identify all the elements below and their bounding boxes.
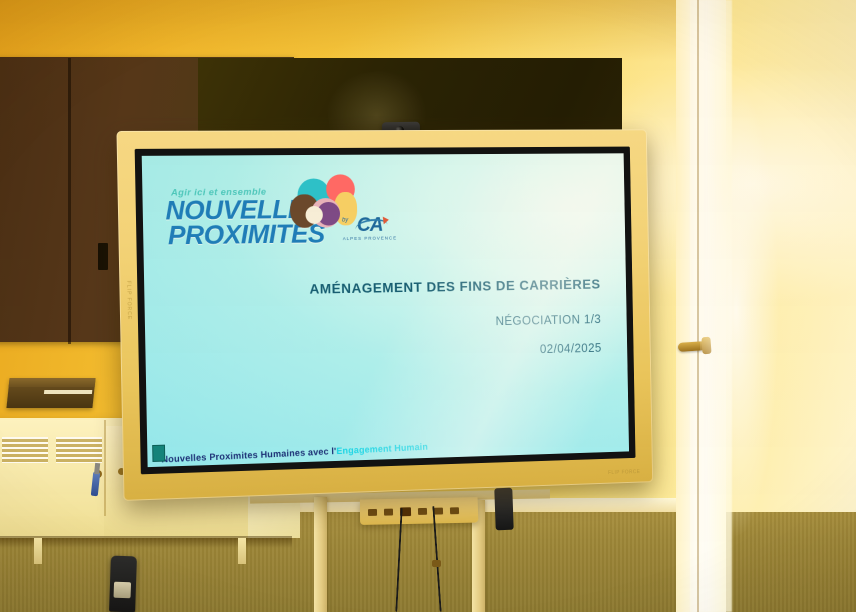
cabinet-leg — [238, 538, 246, 564]
cabinet-leg — [34, 538, 42, 564]
cabinet-shadow — [0, 536, 292, 548]
ca-region-label: ALPES PROVENCE — [340, 235, 399, 241]
cardboard-box — [6, 378, 95, 408]
usb-port[interactable] — [418, 507, 427, 514]
brand-logo: Agir ici et ensemble NOUVELLES PROXIMITE… — [165, 186, 369, 248]
vent-slots-icon — [2, 437, 48, 463]
display-brand-label-right: FLIP FORCE — [608, 469, 640, 476]
slide-subtitle: NÉGOCIATION 1/3 — [145, 312, 601, 335]
slide-title: AMÉNAGEMENT DES FINS DE CARRIÈRES — [144, 277, 601, 301]
wall-shadow — [0, 0, 720, 62]
door-edge — [697, 0, 699, 612]
taskbar-app-icon[interactable] — [152, 445, 165, 462]
box-label-strip — [44, 390, 92, 394]
display-screen[interactable]: Agir ici et ensemble NOUVELLES PROXIMITE… — [135, 147, 636, 475]
vent-slots-icon — [56, 437, 102, 463]
logo-by-label: by — [342, 217, 348, 223]
slide-date: 02/04/2025 — [145, 341, 601, 365]
usb-port[interactable] — [384, 508, 393, 515]
slide-footer-text: Nouvelles Proximites Humaines avec l' — [161, 445, 336, 464]
panel-seam — [68, 58, 71, 344]
box-lid — [9, 378, 96, 387]
display-port-strip[interactable] — [360, 497, 479, 525]
meeting-room-photo: FLIP FORCE FLIP FORCE FLIP FORCE Agir ic… — [0, 0, 856, 612]
display-brand-label-left: FLIP FORCE — [125, 281, 132, 320]
slide-footer-highlight: Engagement Humain — [336, 441, 428, 456]
presentation-slide[interactable]: Agir ici et ensemble NOUVELLES PROXIMITE… — [142, 153, 629, 467]
floor-device — [494, 488, 513, 531]
usb-port[interactable] — [434, 507, 443, 514]
usb-port[interactable] — [450, 507, 459, 514]
usb-port[interactable] — [368, 508, 377, 515]
locker-door[interactable] — [0, 420, 106, 516]
floor-speaker-device — [109, 556, 137, 612]
stand-leg-left — [314, 497, 327, 612]
door-handle-icon[interactable] — [678, 341, 707, 352]
device-label — [114, 582, 132, 599]
wall-switch[interactable] — [98, 243, 108, 270]
interactive-flat-panel-display[interactable]: FLIP FORCE FLIP FORCE Agir ici et ensemb… — [116, 129, 653, 501]
credit-agricole-logo: by CA ALPES PROVENCE — [340, 215, 399, 241]
cable-clip — [432, 560, 441, 567]
slide-footer: Nouvelles Proximites Humaines avec l'Eng… — [161, 432, 620, 465]
